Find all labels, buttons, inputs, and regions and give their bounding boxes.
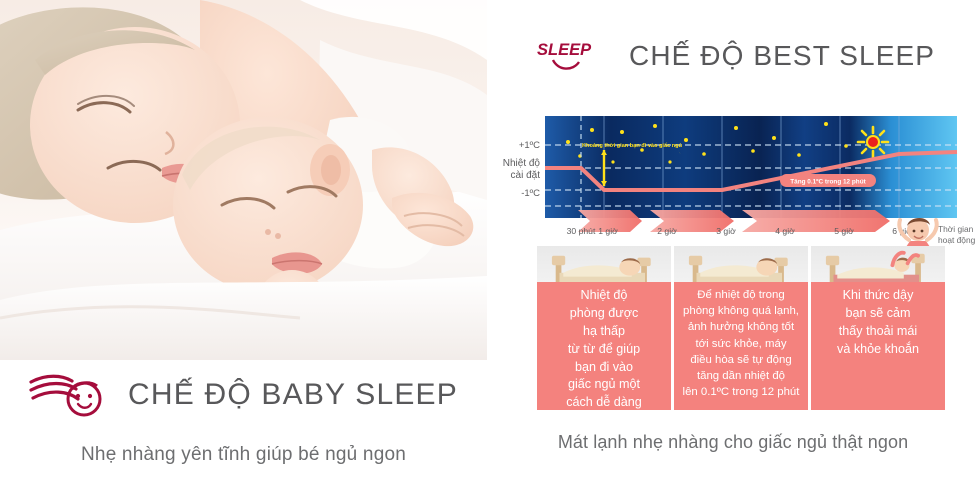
svg-text:Tăng 0.1ºC trong 12 phút: Tăng 0.1ºC trong 12 phút xyxy=(790,179,866,186)
x-tick-5: 5 giờ xyxy=(834,226,854,236)
info-box-1: Nhiệt độ phòng được hạ thấp từ từ để giú… xyxy=(537,282,671,410)
x-tick-3: 3 giờ xyxy=(716,226,736,236)
y-axis-title-line1: Nhiệt độ xyxy=(503,158,541,169)
baby-sleep-title: CHẾ ĐỘ BABY SLEEP xyxy=(128,378,458,412)
best-sleep-caption: Mát lạnh nhẹ nhàng cho giấc ngủ thật ngo… xyxy=(490,432,976,453)
warmup-badge: Tăng 0.1ºC trong 12 phút xyxy=(780,174,876,187)
y-axis-labels: +1ºC Nhiệt độ cài đặt -1ºC xyxy=(503,140,541,199)
best-sleep-title: CHẾ ĐỘ BEST SLEEP xyxy=(629,40,935,72)
best-sleep-title-row: SLEEP CHẾ ĐỘ BEST SLEEP xyxy=(531,32,935,80)
baby-sleep-title-row: CHẾ ĐỘ BABY SLEEP xyxy=(28,372,458,418)
waking-person-icon xyxy=(899,218,936,250)
baby-sleep-caption: Nhẹ nhàng yên tĩnh giúp bé ngủ ngon xyxy=(0,444,487,466)
x-tick-4: 4 giờ xyxy=(775,226,795,236)
best-sleep-infographic: CHẾ ĐỘ BABY SLEEP Nhẹ nhàng yên tĩnh giú… xyxy=(0,0,976,488)
info-box-2: Để nhiệt độ trong phòng không quá lạnh, … xyxy=(674,282,808,410)
y-tick-minus1: -1ºC xyxy=(521,188,540,199)
info-box-3: Khi thức dậy bạn sẽ cảm thấy thoải mái v… xyxy=(811,282,945,410)
svg-text:SLEEP: SLEEP xyxy=(537,41,592,59)
svg-text:Thời gian: Thời gian xyxy=(938,224,974,234)
y-tick-plus1: +1ºC xyxy=(519,140,540,151)
chart-plot-area: Khoảng thời gian bạn đi vào giấc ngủ Tăn… xyxy=(545,116,957,218)
x-tick-2: 2 giờ xyxy=(657,226,677,236)
sleep-moon-logo-icon: SLEEP xyxy=(531,32,611,80)
baby-sleep-logo-icon xyxy=(28,372,114,418)
svg-text:hoạt động: hoạt động xyxy=(938,235,976,245)
y-axis-title-line2: cài đặt xyxy=(511,170,541,181)
mother-baby-photo xyxy=(0,0,487,360)
sun-icon xyxy=(858,127,888,157)
best-sleep-panel: SLEEP CHẾ ĐỘ BEST SLEEP xyxy=(490,0,976,488)
sleep-onset-label: Khoảng thời gian bạn đi vào giấc ngủ xyxy=(582,142,683,149)
activity-time-label: Thời gian hoạt động xyxy=(938,224,976,245)
baby-sleep-panel: CHẾ ĐỘ BABY SLEEP Nhẹ nhàng yên tĩnh giú… xyxy=(0,0,490,488)
x-tick-0: 30 phút xyxy=(567,226,596,236)
x-tick-1: 1 giờ xyxy=(598,226,618,236)
